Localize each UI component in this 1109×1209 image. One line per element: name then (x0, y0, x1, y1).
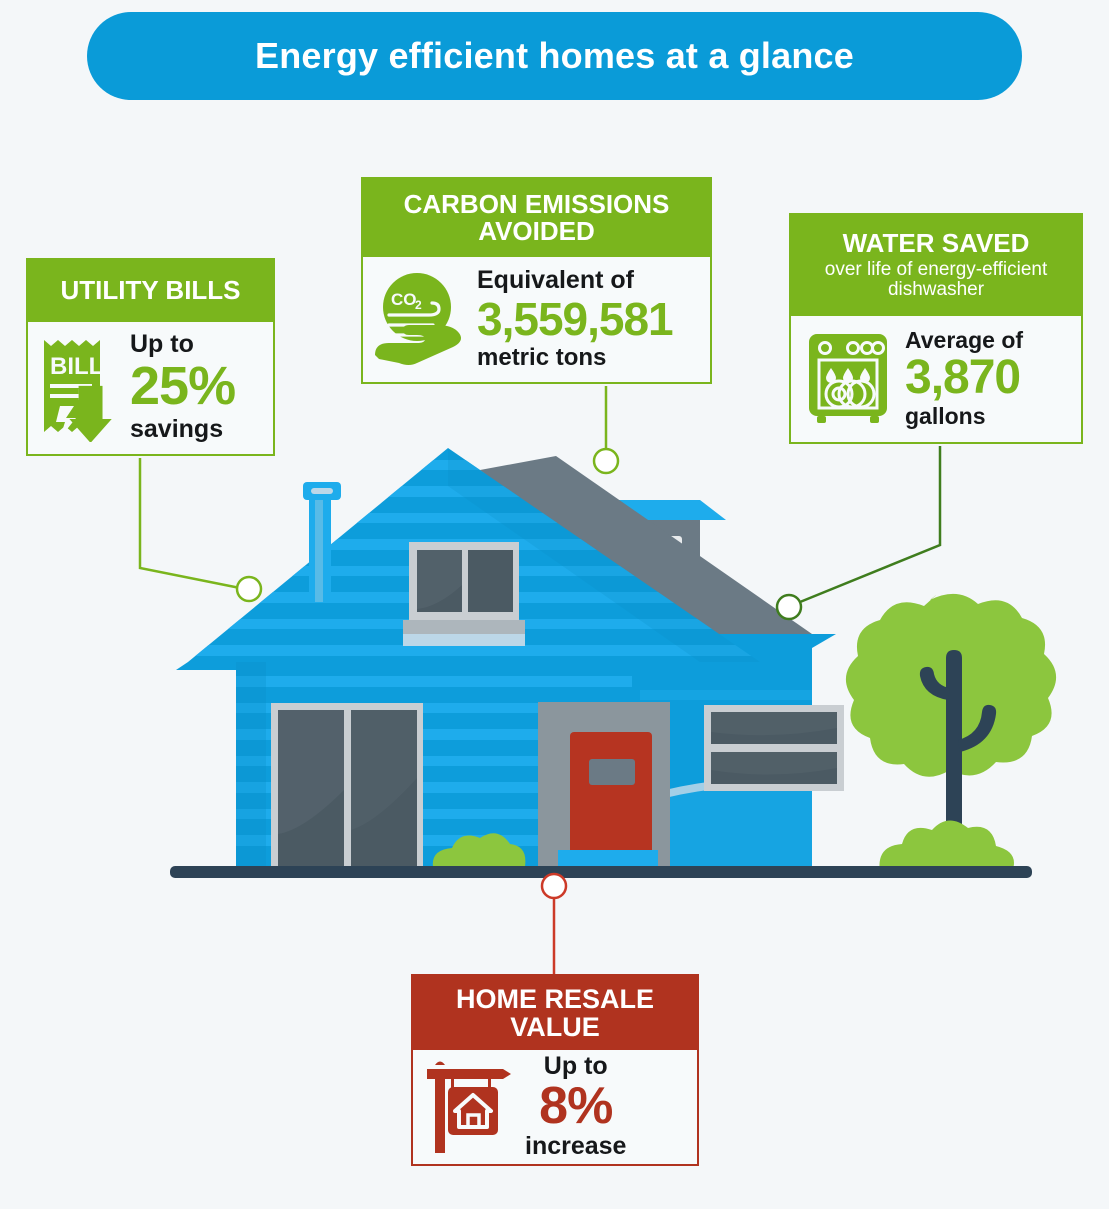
header-banner: Energy efficient homes at a glance (87, 12, 1022, 100)
card-body-resale: Up to 8% increase (413, 1050, 697, 1164)
stat-value: 3,559,581 (477, 296, 673, 342)
stat-utility: Up to 25% savings (126, 332, 235, 442)
card-heading: CARBON EMISSIONS AVOIDED (371, 191, 702, 245)
stat-carbon: Equivalent of 3,559,581 metric tons (475, 268, 673, 370)
house-body (236, 662, 632, 872)
card-heading: UTILITY BILLS (60, 277, 240, 304)
for-sale-sign-icon (421, 1055, 513, 1157)
stat-value: 25% (130, 359, 235, 413)
dormer-front-window (403, 542, 525, 646)
card-body-water: Average of 3,870 gallons (791, 316, 1081, 442)
rear-gable-roof (556, 500, 726, 520)
svg-text:2: 2 (415, 298, 422, 312)
connector-resale (542, 874, 566, 974)
side-window (704, 705, 844, 791)
stat-value: 8% (539, 1080, 612, 1132)
rear-gable (558, 520, 700, 690)
card-body-carbon: CO 2 Equivalent of 3,559,581 metric tons (363, 257, 710, 382)
card-header-carbon: CARBON EMISSIONS AVOIDED (363, 179, 710, 257)
co2-hand-icon: CO 2 (371, 269, 467, 369)
connector-water (777, 446, 940, 619)
porch-and-front-door (538, 702, 670, 872)
stat-value: 3,870 (905, 354, 1023, 402)
bush-right (879, 820, 1014, 872)
card-header-utility: UTILITY BILLS (28, 260, 273, 322)
card-header-resale: HOME RESALE VALUE (413, 976, 697, 1050)
svg-text:CO: CO (391, 290, 417, 309)
bush-left (433, 833, 526, 872)
stat-card-water-saved[interactable]: WATER SAVED over life of energy-efficien… (789, 213, 1083, 444)
stat-prefix: Equivalent of (477, 268, 634, 293)
stat-resale: Up to 8% increase (523, 1054, 626, 1159)
stat-suffix: metric tons (477, 346, 606, 370)
dormer-window (644, 536, 682, 592)
stat-prefix: Up to (544, 1054, 608, 1079)
chimney-vent (303, 482, 341, 602)
stat-water: Average of 3,870 gallons (903, 329, 1023, 428)
infographic-canvas: Energy efficient homes at a glance UTILI… (0, 0, 1109, 1209)
stat-suffix: gallons (905, 405, 1023, 428)
stat-suffix: increase (525, 1134, 626, 1159)
page-title: Energy efficient homes at a glance (255, 35, 854, 77)
connector-utility (140, 458, 261, 601)
stat-card-home-resale-value[interactable]: HOME RESALE VALUE Up to 8% i (411, 974, 699, 1166)
ground-line (170, 866, 1032, 878)
dishwasher-icon (799, 328, 897, 428)
right-wing-body (630, 648, 812, 872)
stat-card-utility-bills[interactable]: UTILITY BILLS BILL Up to 25% savings (26, 258, 275, 456)
stat-card-carbon-emissions[interactable]: CARBON EMISSIONS AVOIDED CO 2 Equivalent… (361, 177, 712, 384)
card-subheading: over life of energy-efficient dishwasher (799, 260, 1073, 301)
tree-icon (846, 594, 1056, 840)
stat-prefix: Average of (905, 329, 1023, 352)
card-heading: WATER SAVED (843, 230, 1030, 257)
card-body-utility: BILL Up to 25% savings (28, 322, 273, 454)
main-roof (150, 448, 790, 670)
stat-prefix: Up to (130, 332, 235, 357)
connector-carbon (594, 386, 618, 473)
bill-icon: BILL (36, 332, 120, 442)
svg-text:BILL: BILL (50, 353, 103, 380)
stat-suffix: savings (130, 417, 235, 442)
card-header-water: WATER SAVED over life of energy-efficien… (791, 215, 1081, 316)
card-heading: HOME RESALE VALUE (421, 985, 689, 1041)
sliding-glass-doors (271, 703, 423, 872)
roof-shadow (480, 456, 812, 634)
